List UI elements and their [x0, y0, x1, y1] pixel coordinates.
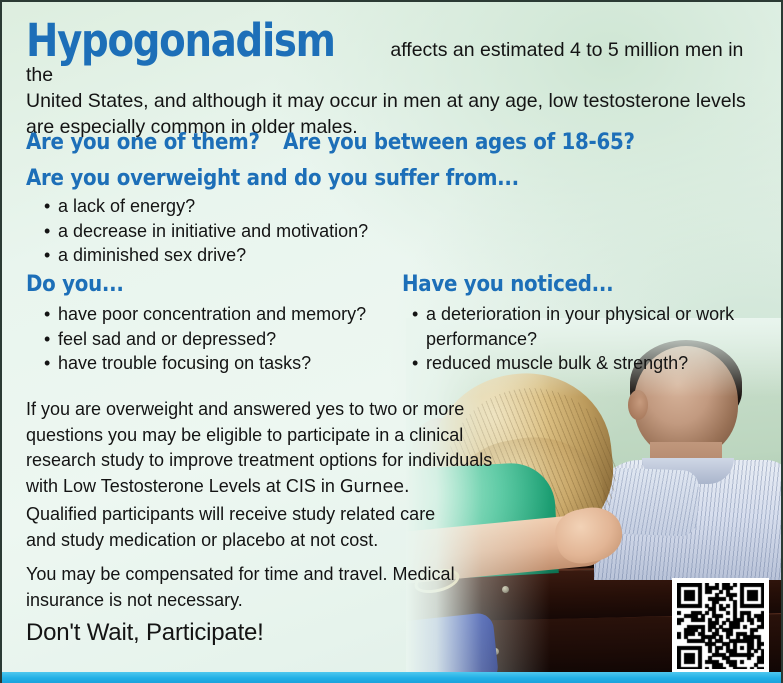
participant-benefits-paragraph: Qualified participants will receive stud… — [26, 502, 466, 553]
question-overweight-suffer: Are you overweight and do you suffer fro… — [26, 166, 519, 191]
bullet-icon: • — [412, 302, 418, 327]
bullet-icon: • — [44, 194, 50, 219]
question-age-range: Are you between ages of 18-65? — [283, 130, 635, 155]
blue-garment — [406, 612, 499, 677]
list-item-label: have trouble focusing on tasks? — [58, 353, 311, 373]
qr-code-image — [677, 583, 764, 669]
symptom-list: •a lack of energy? •a decrease in initia… — [44, 194, 464, 268]
column-heading-have-you-noticed: Have you noticed... — [402, 272, 613, 297]
bullet-icon: • — [44, 302, 50, 327]
bullet-icon: • — [412, 351, 418, 376]
list-item-label: reduced muscle bulk & strength? — [426, 353, 688, 373]
bench-screw — [502, 586, 509, 593]
compensation-paragraph: You may be compensated for time and trav… — [26, 562, 466, 613]
bottom-accent-bar — [2, 672, 783, 683]
bullet-icon: • — [44, 351, 50, 376]
call-to-action: Don't Wait, Participate! — [26, 619, 264, 647]
list-item: •have trouble focusing on tasks? — [44, 351, 414, 376]
eligibility-text: If you are overweight and answered yes t… — [26, 399, 492, 496]
qr-code[interactable] — [672, 578, 769, 674]
list-item: •a deterioration in your physical or wor… — [412, 302, 762, 351]
question-line-1: Are you one of them?Are you between ages… — [26, 130, 635, 155]
list-item: •feel sad and or depressed? — [44, 327, 414, 352]
list-item-label: a decrease in initiative and motivation? — [58, 221, 368, 241]
question-one-of-them: Are you one of them? — [26, 130, 260, 155]
bullet-icon: • — [44, 219, 50, 244]
column-heading-do-you: Do you... — [26, 272, 124, 297]
list-item: •reduced muscle bulk & strength? — [412, 351, 762, 376]
list-item: •a diminished sex drive? — [44, 243, 464, 268]
man-ear — [628, 390, 648, 420]
study-site-name: Gurnee. — [340, 477, 410, 497]
bullet-icon: • — [44, 243, 50, 268]
headline-block: Hypogonadism affects an estimated 4 to 5… — [26, 18, 762, 140]
page-title: Hypogonadism — [26, 18, 335, 63]
list-item-label: feel sad and or depressed? — [58, 329, 276, 349]
list-item-label: a lack of energy? — [58, 196, 195, 216]
have-you-noticed-list: •a deterioration in your physical or wor… — [412, 302, 762, 376]
do-you-list: •have poor concentration and memory? •fe… — [44, 302, 414, 376]
list-item-label: have poor concentration and memory? — [58, 304, 366, 324]
list-item: •have poor concentration and memory? — [44, 302, 414, 327]
list-item-label: a deterioration in your physical or work… — [426, 304, 734, 349]
bullet-icon: • — [44, 327, 50, 352]
eligibility-paragraph: If you are overweight and answered yes t… — [26, 397, 526, 500]
list-item: •a decrease in initiative and motivation… — [44, 219, 464, 244]
flyer-poster: Hypogonadism affects an estimated 4 to 5… — [0, 0, 783, 683]
list-item: •a lack of energy? — [44, 194, 464, 219]
list-item-label: a diminished sex drive? — [58, 245, 246, 265]
